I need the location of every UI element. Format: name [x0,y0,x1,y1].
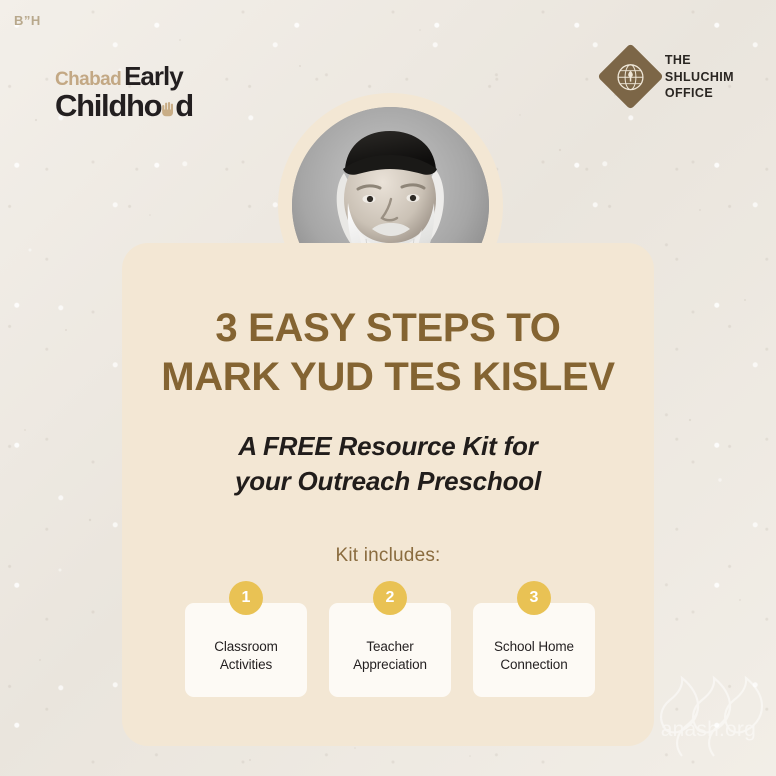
step-number-badge: 1 [229,581,263,615]
kit-item-label-line-2: Activities [214,656,278,674]
kit-item-label-line-2: Appreciation [353,656,427,674]
bh-label: B”H [14,13,41,28]
shluchim-line-3: OFFICE [665,85,734,102]
list-item[interactable]: 2 Teacher Appreciation [329,603,451,697]
logo-line-1: Chabad Early [55,63,191,89]
headline-line-2: MARK YUD TES KISLEV [122,353,654,402]
logo-word-early: Early [124,63,183,89]
anash-watermark: anash.org [650,672,770,764]
kit-includes-label: Kit includes: [122,545,654,567]
kit-item-label: Classroom Activities [208,638,284,674]
content-panel: 3 EASY STEPS TO MARK YUD TES KISLEV A FR… [122,243,654,746]
shluchim-office-logo: THE SHLUCHIM OFFICE [607,52,734,102]
shluchim-line-2: SHLUCHIM [665,69,734,86]
logo-line-2: Childho d [55,90,191,121]
subhead-line-1: A FREE Resource Kit for [122,429,654,464]
kit-item-label: School Home Connection [488,638,580,674]
page-subtitle: A FREE Resource Kit for your Outreach Pr… [122,429,654,498]
hand-icon [161,91,175,109]
headline-line-1: 3 EASY STEPS TO [122,304,654,353]
page-title: 3 EASY STEPS TO MARK YUD TES KISLEV [122,304,654,402]
flame-logo-icon [650,672,770,764]
shluchim-line-1: THE [665,52,734,69]
list-item[interactable]: 1 Classroom Activities [185,603,307,697]
kit-items-list: 1 Classroom Activities 2 Teacher Appreci… [185,603,595,697]
chabad-early-childhood-logo: Chabad Early Childho d [55,63,191,121]
kit-item-label-line-1: School Home [494,638,574,656]
logo-word-chabad: Chabad [55,70,121,89]
globe-diamond-icon [597,44,663,110]
step-number-badge: 2 [373,581,407,615]
kit-item-label-line-1: Classroom [214,638,278,656]
globe-icon [615,62,645,92]
kit-item-label-line-1: Teacher [353,638,427,656]
kit-item-label: Teacher Appreciation [347,638,433,674]
logo-word-childhoo: Childho [55,90,161,121]
poster-canvas: B”H Chabad Early Childho d [0,0,776,776]
step-number-badge: 3 [517,581,551,615]
list-item[interactable]: 3 School Home Connection [473,603,595,697]
kit-item-label-line-2: Connection [494,656,574,674]
shluchim-office-wordmark: THE SHLUCHIM OFFICE [665,52,734,102]
watermark-text: anash.org [661,718,756,742]
subhead-line-2: your Outreach Preschool [122,464,654,499]
logo-word-d: d [175,90,193,121]
